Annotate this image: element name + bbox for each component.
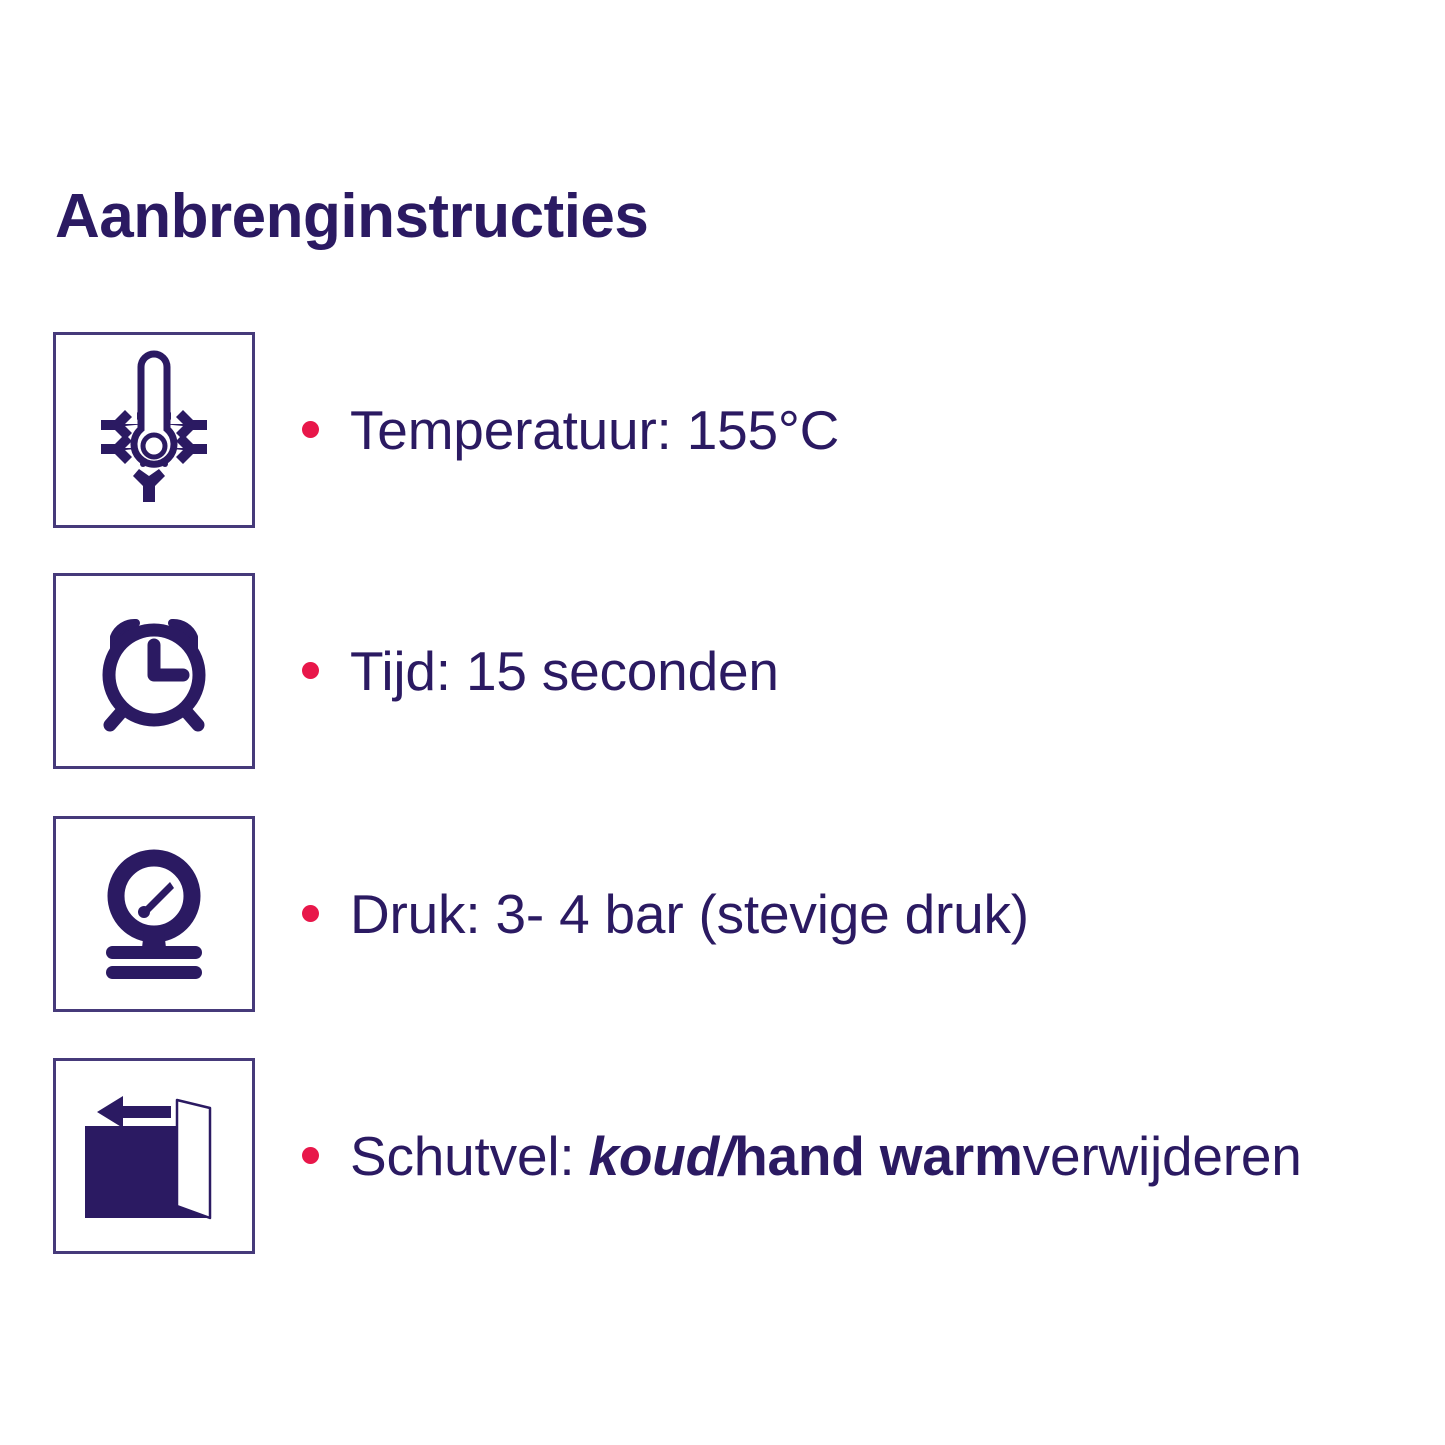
instruction-label-pressure: Druk: 3- 4 bar (stevige druk) [350, 882, 1029, 946]
instruction-label-liner-handwarm: hand warm [734, 1124, 1023, 1188]
instruction-text-time: Tijd: 15 seconden [350, 623, 779, 719]
instruction-label-time: Tijd: 15 seconden [350, 639, 779, 703]
instruction-row-temperature: Temperatuur: 155°C [0, 332, 1445, 528]
instruction-row-time: Tijd: 15 seconden [0, 573, 1445, 769]
instruction-row-liner: Schutvel: koud/ hand warm verwijderen [0, 1058, 1445, 1254]
icon-box-temperature [53, 332, 255, 528]
instruction-text-liner: Schutvel: koud/ hand warm verwijderen [350, 1108, 1302, 1204]
instruction-label-liner-prefix: Schutvel: [350, 1124, 574, 1188]
icon-box-pressure [53, 816, 255, 1012]
instruction-row-pressure: Druk: 3- 4 bar (stevige druk) [0, 816, 1445, 1012]
instruction-label-liner-cold: koud/ [588, 1124, 734, 1188]
peel-liner-icon [79, 1086, 229, 1226]
instruction-label-liner-suffix: verwijderen [1023, 1124, 1302, 1188]
page-title: Aanbrenginstructies [55, 186, 648, 248]
icon-box-time [53, 573, 255, 769]
instruction-text-temperature: Temperatuur: 155°C [350, 382, 839, 478]
instruction-label-temperature: Temperatuur: 155°C [350, 398, 839, 462]
bullet-temperature [302, 421, 319, 438]
instruction-sheet: Aanbrenginstructies [0, 0, 1445, 1445]
thermometer-snowflake-icon [89, 350, 219, 510]
bullet-pressure [302, 905, 319, 922]
pressure-gauge-icon [84, 844, 224, 984]
instruction-text-pressure: Druk: 3- 4 bar (stevige druk) [350, 866, 1029, 962]
icon-box-liner [53, 1058, 255, 1254]
alarm-clock-icon [84, 601, 224, 741]
bullet-liner [302, 1147, 319, 1164]
bullet-time [302, 662, 319, 679]
